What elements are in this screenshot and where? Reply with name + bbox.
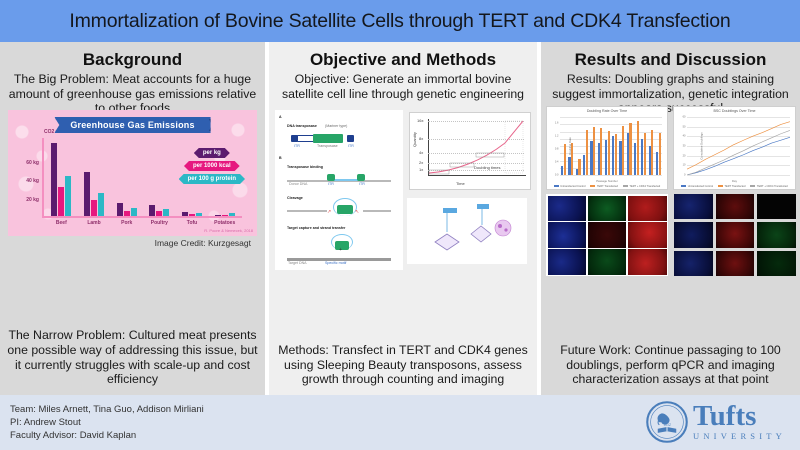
image-credit: Image Credit: Kurzgesagt [155,238,251,248]
ghg-ytick-60: 60 kg [26,160,39,166]
ghg-legend-per-100g-protein: per 100 g protein [179,174,245,184]
bsc-y-axis-label: Cumulative Doublings [700,132,704,159]
diagram-transposase-box [313,134,343,143]
ghg-cat-potatoes: Potatoes [208,220,241,226]
ghg-y-axis [42,138,44,218]
ghg-figure: Greenhouse Gas Emissions CO2 20 kg 40 kg… [8,110,257,253]
microscopy-grid-right [674,194,796,276]
ghg-group-poultry [143,138,176,216]
column-foot-background: The Narrow Problem: Cultured meat presen… [7,328,259,387]
diagram-donor-dna-1: Donor DNA [289,182,307,186]
column-foot-results: Future Work: Continue passaging to 100 d… [545,343,797,387]
ghg-legend: per kg per 1000 kcal per 100 g protein [179,148,245,184]
footer-team: Team: Miles Arnett, Tina Guo, Addison Mi… [10,403,204,416]
diagram-panel-a-label: A [279,115,282,119]
footer-pi: PI: Andrew Stout [10,416,204,429]
poster-title-bar: Immortalization of Bovine Satellite Cell… [0,0,800,42]
ghg-y-axis-label: CO2 [44,129,54,135]
ghg-group-lamb [78,138,111,216]
transposon-diagram: A DNA transposase (Mariner type) ITR Tra… [275,110,403,270]
ghg-source-note: R. Poore & Nemecek, 2018 [204,228,253,233]
ghg-ytick-40: 40 kg [26,178,39,184]
bsc-ytick-30: 30 [683,145,686,148]
dr-ytick-4: 0.4 [555,161,559,164]
dr-legend-0: Untransfected Control [560,185,585,188]
ghg-chart-title: Greenhouse Gas Emissions [54,117,210,133]
diagram-step-binding: Transposase binding [287,165,323,169]
diagram-itr-b-right: ITR [359,182,365,186]
tufts-seal-year: 1852 [663,423,671,427]
dr-ytick-8: 0.8 [555,148,559,151]
poster-root: Immortalization of Bovine Satellite Cell… [0,0,800,450]
diagram-itr-left: ITR [294,144,300,148]
doubling-rate-bars [560,117,662,175]
ghg-ytick-20: 20 kg [26,197,39,203]
results-charts: Doubling Rate Over Time 0.0 0.4 0.8 1.2 … [546,106,796,190]
footer-credits: Team: Miles Arnett, Tina Guo, Addison Mi… [10,403,204,442]
bsc-legend-0: Untransfected Control [688,185,713,188]
column-lead-background: The Big Problem: Meat accounts for a hug… [7,72,259,116]
bsc-doublings-legend: Untransfected Control TERT Transfected T… [674,185,795,188]
page-title: Immortalization of Bovine Satellite Cell… [69,10,730,33]
column-results-discussion: Results and Discussion Results: Doubling… [541,42,800,395]
bsc-legend-2: TERT + CDK4 Transfected [757,185,788,188]
column-heading-results: Results and Discussion [575,50,767,70]
diagram-panel-a-title: DNA transposase [287,124,317,128]
poster-footer: Team: Miles Arnett, Tina Guo, Addison Mi… [0,395,800,450]
bsc-doublings-chart: BSC Doublings Over Time 0 10 20 30 40 50… [673,106,796,190]
ghg-cat-lamb: Lamb [78,220,111,226]
ghg-cat-poultry: Poultry [143,220,176,226]
doubling-rate-title: Doubling Rate Over Time [547,109,667,113]
ghg-group-beef [45,138,78,216]
doubling-rate-plot: 0.0 0.4 0.8 1.2 1.6 [560,117,662,175]
diagram-panel-b-label: B [279,156,282,160]
dr-ytick-12: 1.2 [555,135,559,138]
dr-x-axis-label: Passage Number [547,179,667,183]
dr-legend-1: TERT Transfected [597,185,618,188]
ghg-cat-tofu: Tofu [176,220,209,226]
diagram-itr-b-left: ITR [328,182,334,186]
column-objective-methods: Objective and Methods Objective: Generat… [269,42,537,395]
dr-y-axis-label: Doubling Rate [568,137,572,155]
diagram-panel-a-subtitle: (Mariner type) [325,124,347,128]
bsc-doublings-title: BSC Doublings Over Time [674,109,795,113]
doubling-rate-legend: Untransfected Control TERT Transfected T… [547,185,667,188]
gel-blot-figure [407,198,527,264]
ghg-chart: Greenhouse Gas Emissions CO2 20 kg 40 kg… [8,110,257,236]
dr-ytick-16: 1.6 [555,122,559,125]
microscopy-panels [546,194,796,276]
microscopy-grid-left [546,194,668,276]
tufts-subtitle: UNIVERSITY [693,431,786,441]
ghg-group-pork [110,138,143,216]
doubling-rate-chart: Doubling Rate Over Time 0.0 0.4 0.8 1.2 … [546,106,668,190]
column-heading-objective-methods: Objective and Methods [310,50,496,70]
column-foot-objective-methods: Methods: Transfect in TERT and CDK4 gene… [277,343,529,387]
dr-legend-2: TERT + CDK4 Transfected [629,185,660,188]
ghg-cat-beef: Beef [45,220,78,226]
diagram-specific-motif: Specific motif [325,261,346,265]
bsc-ytick-50: 50 [683,125,686,128]
diagram-step-cleavage: Cleavage [287,196,303,200]
ghg-legend-per-kg: per kg [194,148,230,158]
diagram-target-dna: Target DNA [288,261,307,265]
growth-curve-line [410,113,532,191]
poster-columns: Background The Big Problem: Meat account… [0,42,800,395]
ghg-category-labels: Beef Lamb Pork Poultry Tofu Potatoes [45,220,241,226]
tufts-wordmark: Tufts UNIVERSITY [693,403,786,441]
ghg-x-axis [42,216,242,218]
tufts-logo: 1852 Tufts UNIVERSITY [646,401,786,443]
column-heading-background: Background [83,50,182,70]
bsc-ytick-0: 0 [684,174,685,177]
footer-advisor: Faculty Advisor: David Kaplan [10,429,204,442]
tufts-seal-icon: 1852 [646,401,688,443]
dr-ytick-0: 0.0 [555,174,559,177]
bsc-legend-1: TERT Transfected [724,185,745,188]
growth-curve-figure: 16x 8x 4x 2x 1x Quantity Time Doubling t… [409,112,531,190]
tufts-name: Tufts [693,403,756,430]
ghg-cat-pork: Pork [110,220,143,226]
bsc-ytick-60: 60 [683,116,686,119]
bsc-ytick-20: 20 [683,154,686,157]
column-background: Background The Big Problem: Meat account… [0,42,265,395]
diagram-transposase-label: Transposase [317,144,338,148]
bsc-ytick-40: 40 [683,135,686,138]
methods-figures: A DNA transposase (Mariner type) ITR Tra… [275,110,531,270]
diagram-itr-right: ITR [348,144,354,148]
column-lead-objective-methods: Objective: Generate an immortal bovine s… [277,72,529,101]
bsc-ytick-10: 10 [683,164,686,167]
ghg-legend-per-1000-kcal: per 1000 kcal [184,161,240,171]
bsc-doublings-plot: 0 10 20 30 40 50 60 Cumulative Doublings [687,117,790,175]
bsc-x-axis-label: Day [674,179,795,183]
diagram-step-target-capture: Target capture and strand transfer [287,226,345,230]
